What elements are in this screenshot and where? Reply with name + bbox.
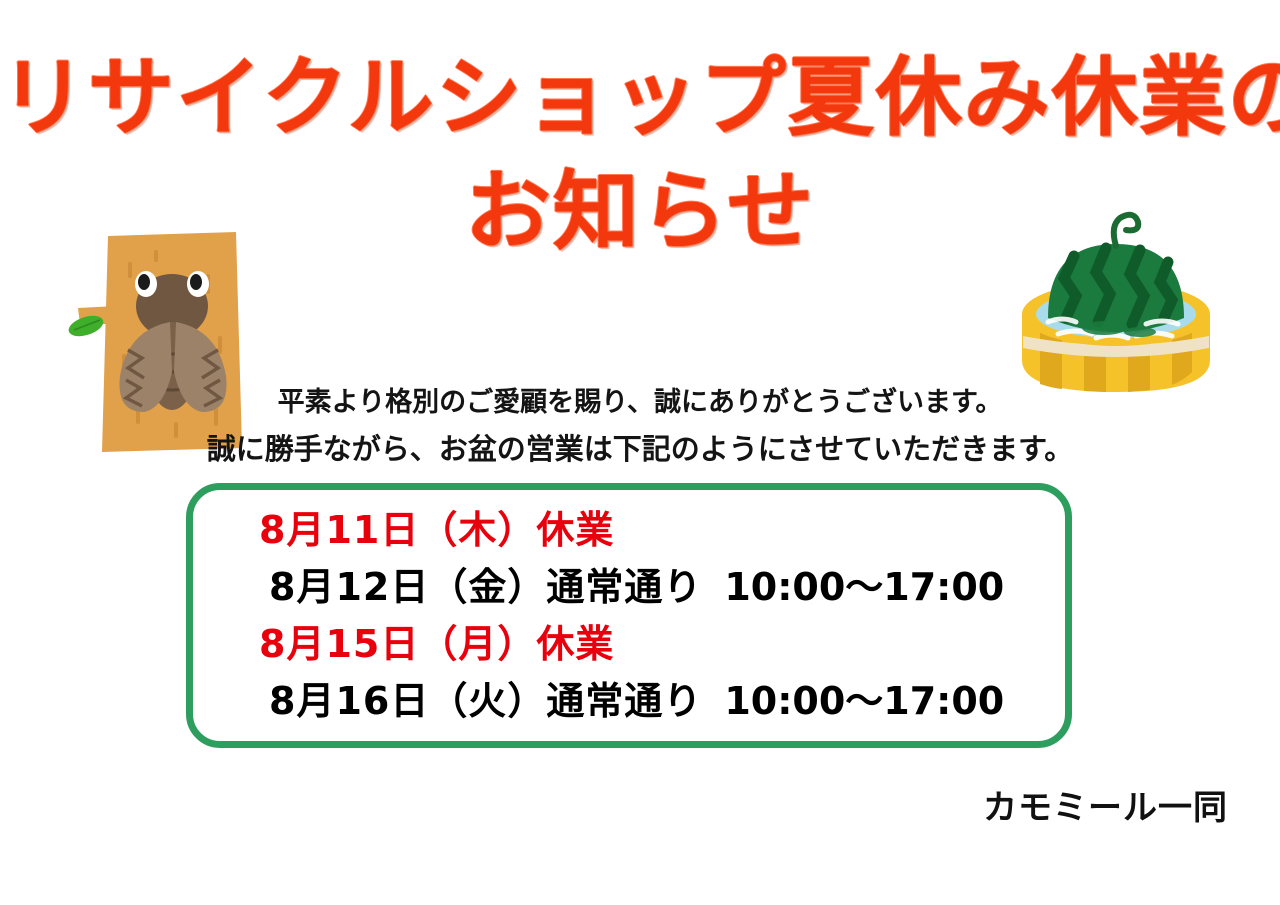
schedule-row: 8月12日（金） 通常通り 10:00〜17:00 [193, 559, 1065, 616]
schedule-row: 8月15日（月） 休業 [193, 616, 1065, 673]
body-line-1: 平素より格別のご愛顧を賜り、誠にありがとうございます。 [0, 380, 1280, 426]
schedule-hours: 10:00〜17:00 [724, 673, 1004, 730]
schedule-status: 通常通り [546, 559, 724, 616]
schedule-row: 8月11日（木） 休業 [193, 502, 1065, 559]
body-paragraphs: 平素より格別のご愛顧を賜り、誠にありがとうございます。 誠に勝手ながら、お盆の営… [0, 380, 1280, 472]
schedule-box: 8月11日（木） 休業 8月12日（金） 通常通り 10:00〜17:00 8月… [186, 483, 1072, 748]
schedule-status: 通常通り [546, 673, 724, 730]
title-line-1: リサイクルショップ夏休み休業の [0, 52, 1280, 144]
schedule-hours: 10:00〜17:00 [724, 559, 1004, 616]
schedule-date: 8月16日（火） [269, 673, 546, 730]
schedule-date: 8月11日（木） [259, 502, 536, 559]
schedule-date: 8月12日（金） [269, 559, 546, 616]
cicada-pupil-right [190, 274, 202, 290]
schedule-date: 8月15日（月） [259, 616, 536, 673]
schedule-rows: 8月11日（木） 休業 8月12日（金） 通常通り 10:00〜17:00 8月… [193, 502, 1065, 730]
signature: カモミール一同 [983, 788, 1228, 828]
schedule-status: 休業 [536, 502, 714, 559]
notice-poster: リサイクルショップ夏休み休業の お知らせ [0, 0, 1280, 905]
body-line-2: 誠に勝手ながら、お盆の営業は下記のようにさせていただきます。 [0, 426, 1280, 472]
schedule-status: 休業 [536, 616, 714, 673]
schedule-row: 8月16日（火） 通常通り 10:00〜17:00 [193, 673, 1065, 730]
cicada-pupil-left [138, 274, 150, 290]
watermelon-in-water-tub-illustration [1000, 196, 1232, 406]
watermelon-stem [1114, 215, 1139, 246]
